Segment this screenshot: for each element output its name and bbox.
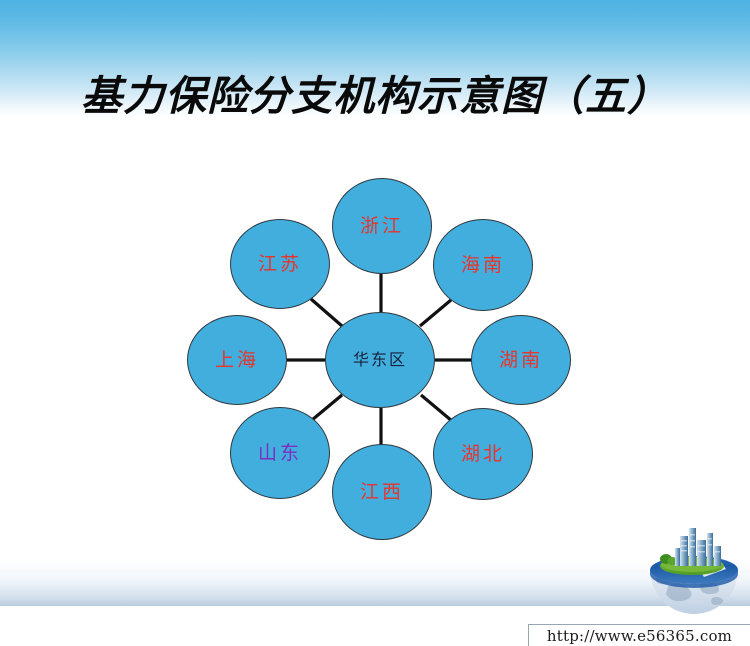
url-watermark-text: http://www.e56365.com [547,627,732,645]
branch-node-label: 浙江 [360,217,404,236]
url-watermark: http://www.e56365.com [528,624,750,646]
connector-huadong-hainan [420,300,451,326]
branch-node-label: 江苏 [258,255,302,274]
slide-canvas: 基力保险分支机构示意图（五） 浙江 江苏 海南 上海 [0,0,750,646]
connector-huadong-hubei [421,395,452,421]
branch-node-hainan[interactable]: 海南 [433,219,533,311]
branch-node-label: 海南 [461,256,505,275]
branch-node-label: 山东 [258,444,302,463]
hub-node-label: 华东区 [353,352,407,368]
branch-node-label: 湖北 [461,445,505,464]
branch-node-shanghai[interactable]: 上海 [187,315,287,405]
sea-watermark-icons [18,620,128,640]
branch-node-label: 江西 [360,483,404,502]
branch-node-shandong[interactable]: 山东 [230,407,330,499]
eco-city-globe-logo [644,524,744,620]
branch-node-jiangxi[interactable]: 江西 [332,444,432,540]
branch-node-hunan[interactable]: 湖南 [471,315,571,405]
branch-node-hubei[interactable]: 湖北 [433,408,533,500]
hub-node-huadongqu[interactable]: 华东区 [325,312,435,408]
connector-huadong-jiangsu [311,299,342,326]
connector-huadong-shandong [312,395,342,420]
branch-node-label: 湖南 [499,351,543,370]
page-title: 基力保险分支机构示意图（五） [0,62,750,122]
branch-node-label: 上海 [215,351,259,370]
branch-structure-diagram: 浙江 江苏 海南 上海 湖南 山东 湖北 江西 华东区 [175,168,595,558]
branch-node-jiangsu[interactable]: 江苏 [230,219,330,309]
branch-node-zhejiang[interactable]: 浙江 [332,178,432,274]
background-horizon-haze [0,560,750,606]
background-horizon-line [0,606,750,609]
